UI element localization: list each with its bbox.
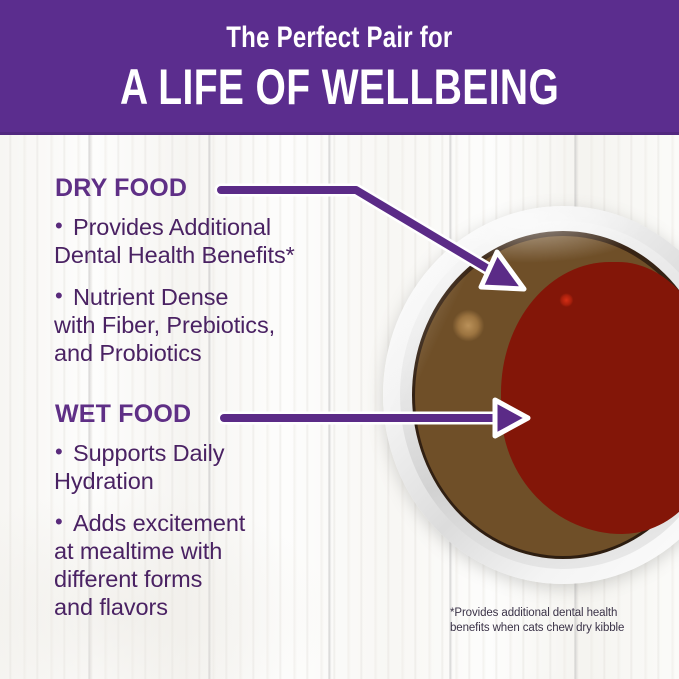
list-item: Provides Additional Dental Health Benefi… <box>54 213 354 269</box>
list-item: Nutrient Dense with Fiber, Prebiotics, a… <box>54 283 354 367</box>
bullet-line: with Fiber, Prebiotics, <box>54 311 354 339</box>
content-column: DRY FOOD Provides Additional Dental Heal… <box>0 135 679 679</box>
bullet-line: at mealtime with <box>54 537 354 565</box>
header-line-1: The Perfect Pair for <box>226 23 452 53</box>
section-heading-wet-food: WET FOOD <box>55 400 191 429</box>
bullet-line: different forms <box>54 565 354 593</box>
poster-root: The Perfect Pair for A LIFE OF WELLBEING… <box>0 0 679 679</box>
section-heading-dry-food: DRY FOOD <box>55 174 187 203</box>
bullet-list-wet-food: Supports Daily Hydration Adds excitement… <box>54 439 354 635</box>
bullet-line: Adds excitement <box>73 510 245 536</box>
bullet-line: Provides Additional <box>73 214 271 240</box>
list-item: Adds excitement at mealtime with differe… <box>54 509 354 621</box>
header-band: The Perfect Pair for A LIFE OF WELLBEING <box>0 0 679 135</box>
bullet-list-dry-food: Provides Additional Dental Health Benefi… <box>54 213 354 381</box>
header-line-2: A LIFE OF WELLBEING <box>120 62 559 112</box>
footnote-line-1: *Provides additional dental health <box>450 606 665 621</box>
footnote-line-2: benefits when cats chew dry kibble <box>450 621 665 636</box>
footnote: *Provides additional dental health benef… <box>450 606 665 635</box>
bullet-line: Nutrient Dense <box>73 284 228 310</box>
bullet-line: Hydration <box>54 467 354 495</box>
bullet-line: and flavors <box>54 593 354 621</box>
bullet-line: Dental Health Benefits* <box>54 241 354 269</box>
bullet-line: Supports Daily <box>73 440 224 466</box>
list-item: Supports Daily Hydration <box>54 439 354 495</box>
bullet-line: and Probiotics <box>54 339 354 367</box>
